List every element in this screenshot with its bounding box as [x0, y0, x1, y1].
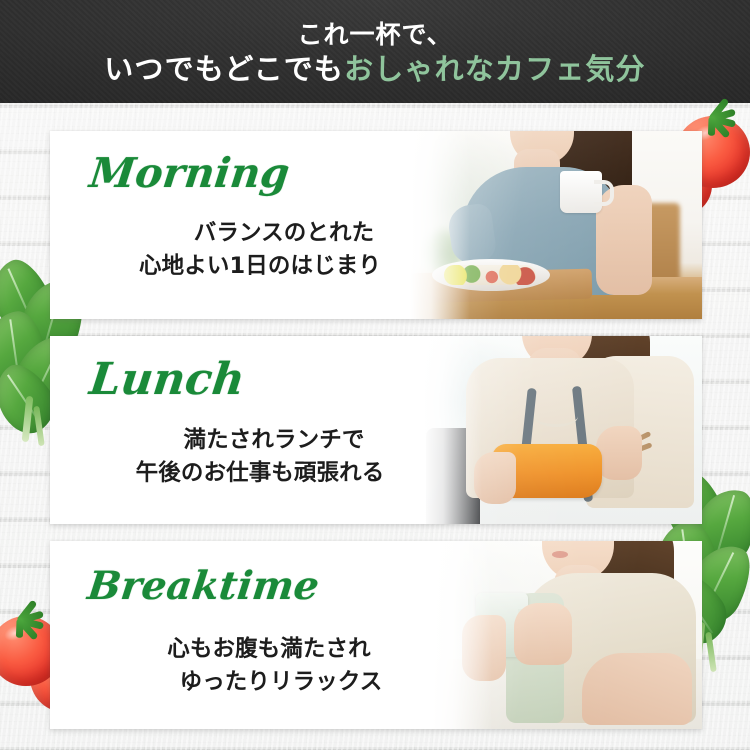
panel-lunch-text: Lunch 満たされランチで 午後のお仕事も頑張れる — [50, 336, 480, 524]
panel-breaktime-subtitle: 心もお腹も満たされ ゆったりリラックス — [50, 633, 470, 699]
header-line-2-accent: おしゃれなカフェ気分 — [344, 52, 646, 86]
header-bar: これ一杯で、 いつでもどこでもおしゃれなカフェ気分 — [0, 0, 750, 103]
hand-right — [514, 603, 572, 665]
panel-morning-text: Morning バランスのとれた 心地よい1日のはじまり — [50, 131, 480, 319]
panel-lunch-script-title: Lunch — [87, 354, 248, 405]
subtitle-line-2: 心地よい1日のはじまり — [50, 250, 470, 283]
lips — [552, 551, 568, 558]
subtitle-line-1: バランスのとれた — [50, 217, 470, 250]
panel-lunch-subtitle: 満たされランチで 午後のお仕事も頑張れる — [50, 424, 470, 490]
subtitle-line-1: 心もお腹も満たされ — [50, 633, 470, 666]
panel-breaktime-text: Breaktime 心もお腹も満たされ ゆったりリラックス — [50, 541, 480, 729]
panel-morning[interactable]: Morning バランスのとれた 心地よい1日のはじまり — [50, 131, 702, 319]
subtitle-line-1: 満たされランチで — [50, 424, 470, 457]
panel-morning-script-title: Morning — [87, 149, 292, 197]
arm — [582, 653, 692, 725]
panel-breaktime[interactable]: Breaktime 心もお腹も満たされ ゆったりリラックス — [50, 541, 702, 729]
promo-banner: これ一杯で、 いつでもどこでもおしゃれなカフェ気分 — [0, 0, 750, 750]
panel-morning-subtitle: バランスのとれた 心地よい1日のはじまり — [50, 217, 470, 283]
header-line-1: これ一杯で、 — [297, 19, 452, 51]
necklace — [534, 406, 578, 427]
subtitle-line-2: ゆったりリラックス — [50, 666, 470, 699]
header-line-2: いつでもどこでもおしゃれなカフェ気分 — [104, 51, 645, 88]
header-line-2-plain: いつでもどこでも — [104, 52, 344, 86]
panel-lunch[interactable]: Lunch 満たされランチで 午後のお仕事も頑張れる — [50, 336, 702, 524]
subtitle-line-2: 午後のお仕事も頑張れる — [50, 457, 470, 490]
panel-breaktime-script-title: Breaktime — [85, 563, 322, 609]
hand-right — [596, 426, 642, 480]
hand-left — [474, 452, 516, 504]
white-mug — [560, 171, 602, 213]
